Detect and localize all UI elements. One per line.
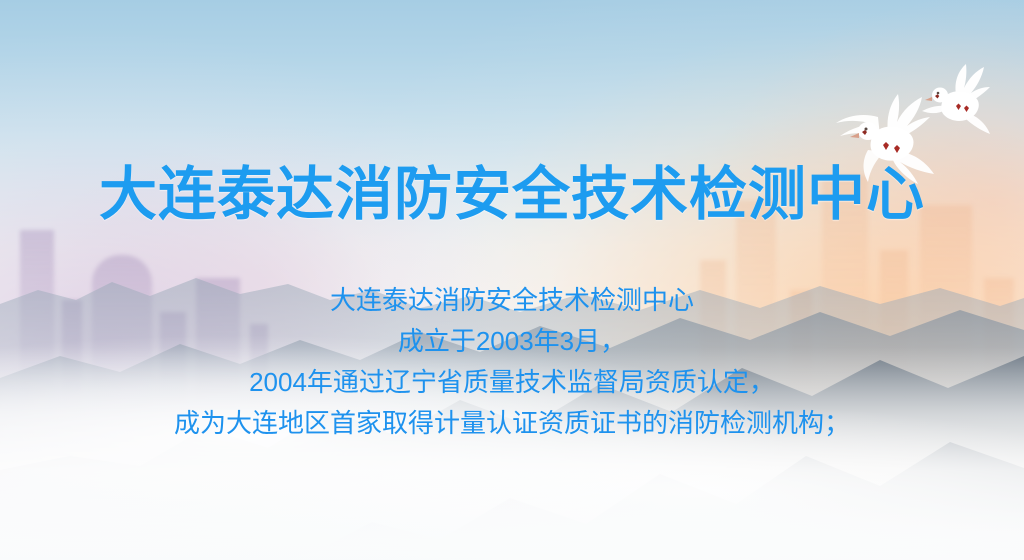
page-title: 大连泰达消防安全技术检测中心 <box>0 166 1024 224</box>
description-block: 大连泰达消防安全技术检测中心 成立于2003年3月， 2004年通过辽宁省质量技… <box>0 280 1024 444</box>
dove-icon <box>916 62 1006 138</box>
promotional-banner: 大连泰达消防安全技术检测中心 大连泰达消防安全技术检测中心 成立于2003年3月… <box>0 0 1024 560</box>
description-line: 成立于2003年3月， <box>0 321 1024 362</box>
description-line: 大连泰达消防安全技术检测中心 <box>0 280 1024 321</box>
description-line: 2004年通过辽宁省质量技术监督局资质认定， <box>0 362 1024 403</box>
description-line: 成为大连地区首家取得计量认证资质证书的消防检测机构； <box>0 403 1024 444</box>
